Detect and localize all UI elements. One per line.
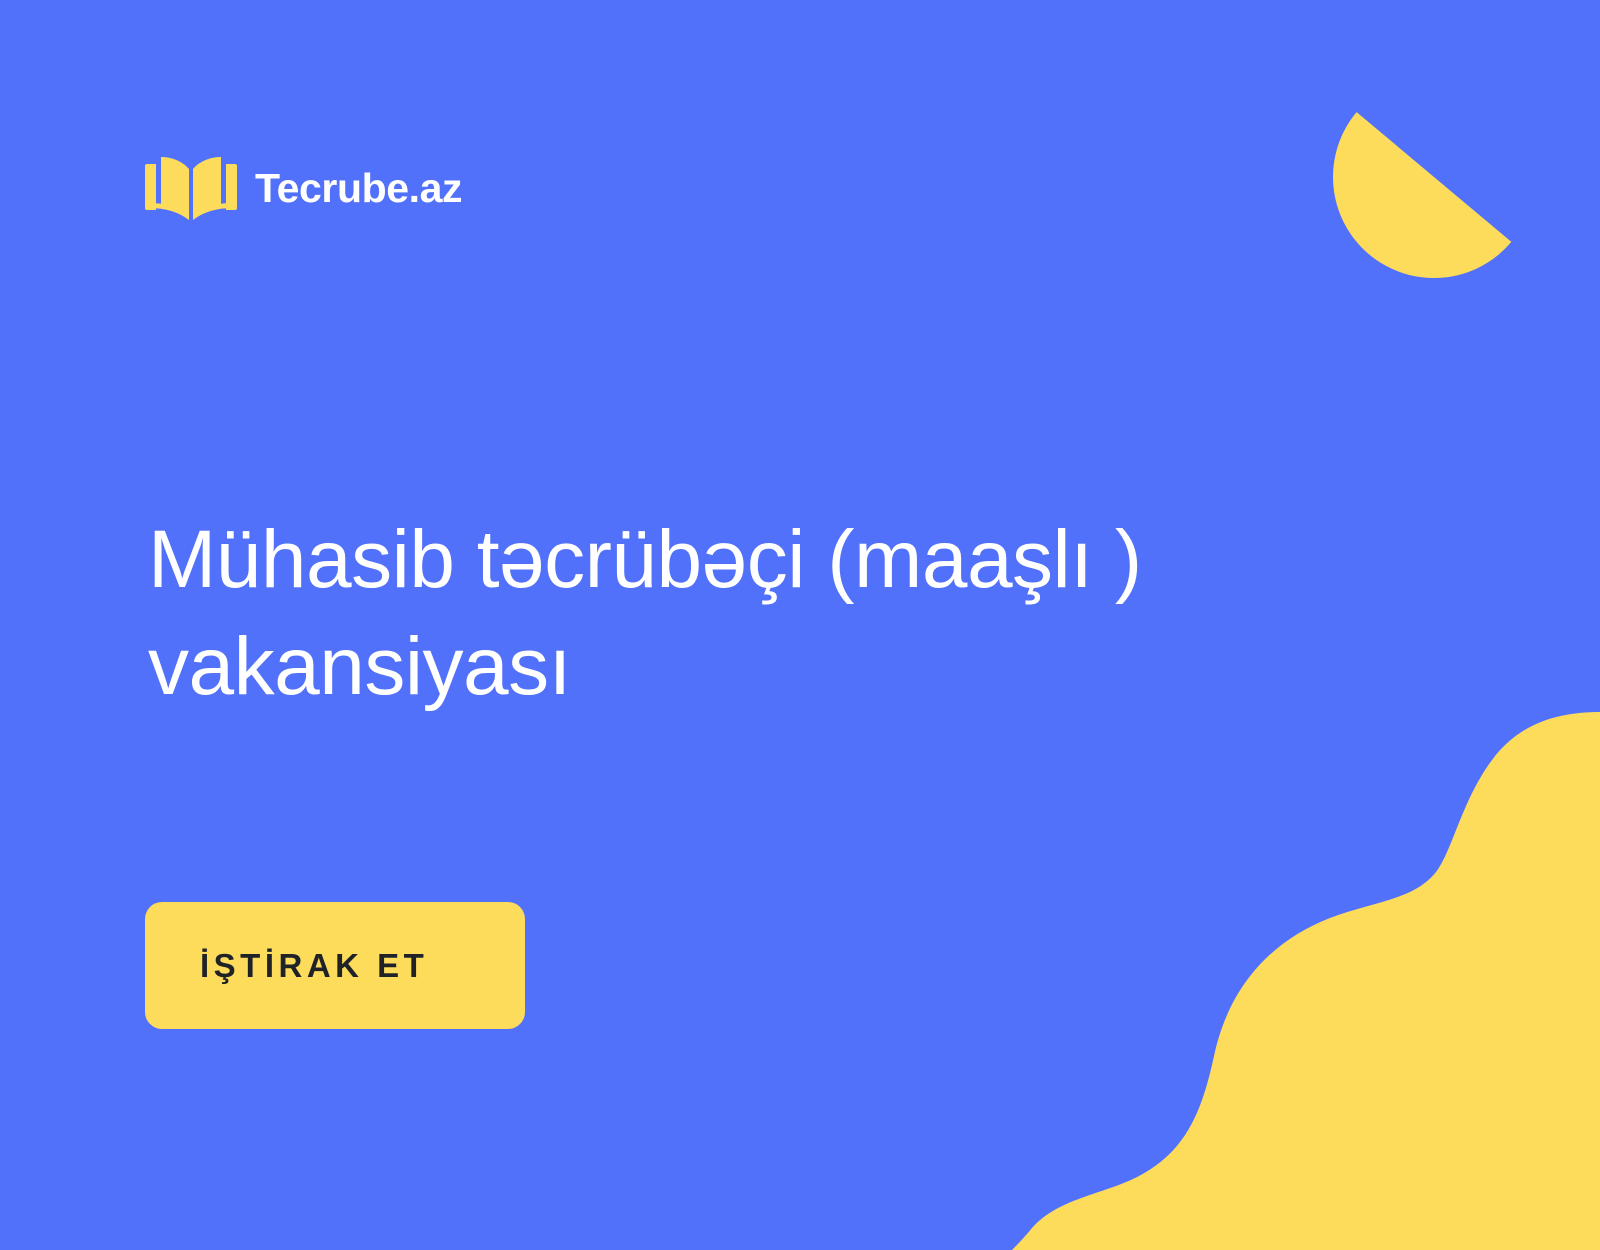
wave-blob-bottom-right-shape <box>1012 712 1600 1250</box>
participate-button[interactable]: İŞTİRAK ET <box>145 902 525 1029</box>
open-book-icon <box>145 152 237 224</box>
brand-logo[interactable]: Tecrube.az <box>145 152 462 224</box>
job-vacancy-poster: Tecrube.az Mühasib təcrübəçi (maaşlı ) v… <box>0 0 1600 1250</box>
brand-name-text: Tecrube.az <box>255 168 462 209</box>
page-title: Mühasib təcrübəçi (maaşlı ) vakansiyası <box>148 507 1268 720</box>
semicircle-top-right-shape <box>1292 112 1512 319</box>
